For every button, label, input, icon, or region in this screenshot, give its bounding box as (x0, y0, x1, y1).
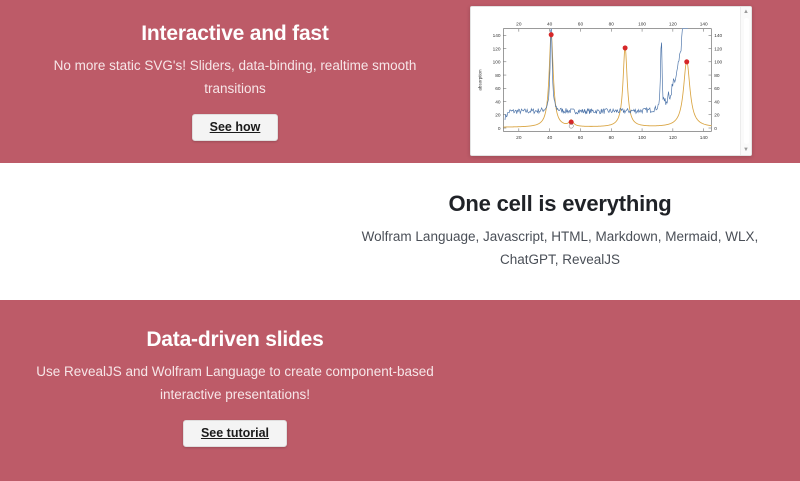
svg-text:60: 60 (578, 135, 584, 141)
absorption-chart-body: 2020404060608080100100120120140140002020… (471, 7, 740, 155)
svg-text:60: 60 (714, 86, 720, 92)
svg-text:100: 100 (638, 22, 646, 28)
hero-subtitle: No more static SVG's! Sliders, data-bind… (28, 55, 442, 100)
svg-text:140: 140 (700, 22, 708, 28)
page-title: Interactive and fast (28, 22, 442, 46)
svg-text:0: 0 (498, 126, 501, 132)
svg-text:80: 80 (495, 73, 501, 79)
slides-copy: Data-driven slides Use RevealJS and Wolf… (0, 328, 470, 446)
svg-text:0: 0 (714, 126, 717, 132)
svg-text:100: 100 (714, 60, 722, 66)
footer-band (0, 475, 800, 481)
landing-page: Interactive and fast No more static SVG'… (0, 0, 800, 481)
scroll-thumb[interactable] (744, 18, 749, 144)
svg-text:120: 120 (669, 22, 677, 28)
one-cell-subtitle: Wolfram Language, Javascript, HTML, Mark… (344, 226, 776, 271)
svg-text:60: 60 (495, 86, 501, 92)
section-interactive-and-fast: Interactive and fast No more static SVG'… (0, 0, 800, 163)
absorption-svg: 2020404060608080100100120120140140002020… (471, 7, 740, 155)
svg-text:140: 140 (714, 33, 722, 39)
absorption-scrollbar[interactable]: ▲ ▼ (740, 7, 751, 155)
svg-text:40: 40 (714, 99, 720, 105)
svg-text:80: 80 (609, 22, 615, 28)
one-cell-title: One cell is everything (344, 191, 776, 217)
section-data-driven-slides: Data-driven slides Use RevealJS and Wolf… (0, 300, 800, 475)
svg-text:20: 20 (714, 112, 720, 118)
slides-subtitle: Use RevealJS and Wolfram Language to cre… (28, 361, 442, 406)
slides-title: Data-driven slides (28, 328, 442, 352)
scroll-down-icon[interactable]: ▼ (743, 147, 749, 153)
section-one-cell-is-everything: Plot[x, {x,0,1}] 00.20.40.60.8100.20.40.… (0, 163, 800, 300)
svg-text:100: 100 (493, 60, 501, 66)
svg-text:40: 40 (547, 135, 553, 141)
svg-text:20: 20 (516, 22, 522, 28)
absorption-chart: 2020404060608080100100120120140140002020… (471, 7, 740, 155)
svg-text:120: 120 (714, 46, 722, 52)
svg-text:80: 80 (714, 73, 720, 79)
svg-text:140: 140 (493, 33, 501, 39)
svg-text:20: 20 (516, 135, 522, 141)
svg-text:40: 40 (547, 22, 553, 28)
svg-text:120: 120 (493, 46, 501, 52)
one-cell-copy: One cell is everything Wolfram Language,… (320, 191, 800, 271)
svg-text:40: 40 (495, 99, 501, 105)
svg-text:20: 20 (495, 112, 501, 118)
see-tutorial-button[interactable]: See tutorial (183, 420, 287, 447)
hero-copy: Interactive and fast No more static SVG'… (0, 22, 470, 140)
svg-text:120: 120 (669, 135, 677, 141)
see-how-button[interactable]: See how (192, 114, 279, 141)
svg-text:140: 140 (700, 135, 708, 141)
svg-text:80: 80 (609, 135, 615, 141)
svg-text:60: 60 (578, 22, 584, 28)
svg-text:absorption: absorption (478, 69, 483, 91)
scroll-up-icon[interactable]: ▲ (743, 9, 749, 15)
absorption-chart-panel[interactable]: 2020404060608080100100120120140140002020… (470, 6, 752, 156)
svg-text:100: 100 (638, 135, 646, 141)
